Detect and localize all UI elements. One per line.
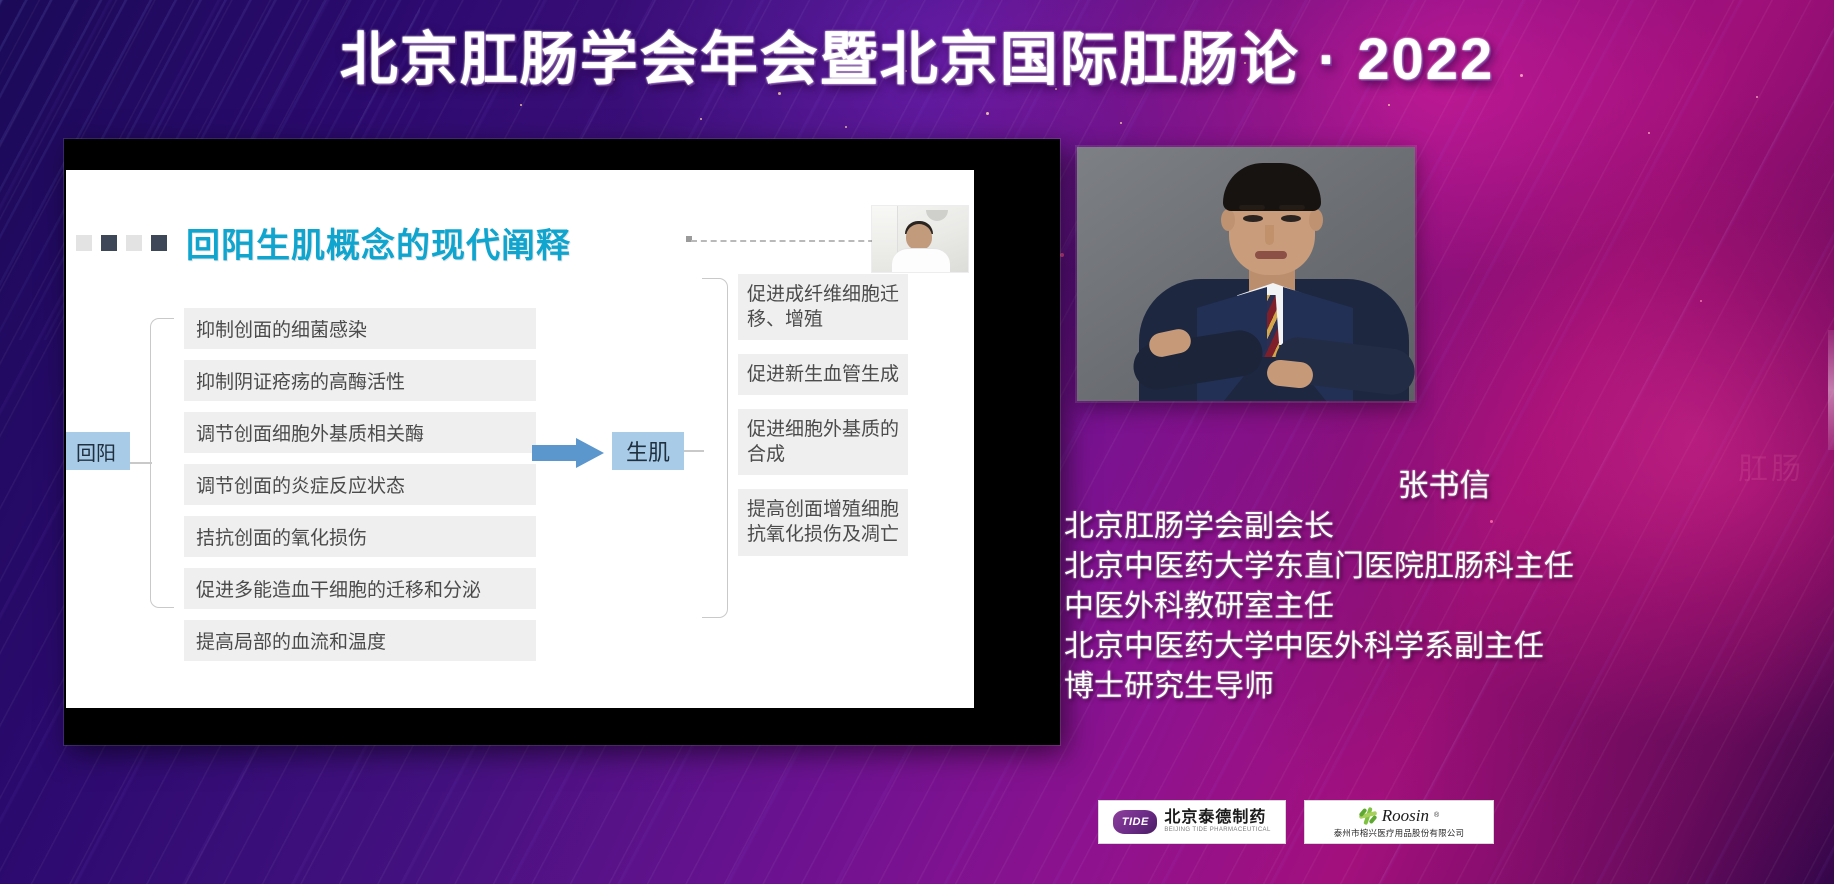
list-item: 拮抗创面的氧化损伤	[184, 516, 536, 557]
slide-heading: 回阳生肌概念的现代阐释	[76, 218, 571, 267]
screen-share-panel[interactable]: 回阳生肌概念的现代阐释 回阳 抑制创面的细菌感染 抑制阴证疮疡的高酶活性 调节创…	[64, 139, 1060, 745]
presenter-title-line: 中医外科教研室主任	[1064, 587, 1824, 627]
list-item: 促进多能造血干细胞的迁移和分泌	[184, 568, 536, 609]
bracket-right-stem	[684, 450, 704, 452]
diagram-root-node: 回阳	[66, 432, 130, 470]
list-item: 调节创面的炎症反应状态	[184, 464, 536, 505]
list-item: 促进成纤维细胞迁移、增殖	[738, 274, 908, 340]
presenter-name: 张书信	[1064, 460, 1824, 505]
bracket-right	[702, 278, 728, 618]
presenter-title-line: 北京中医药大学东直门医院肛肠科主任	[1064, 547, 1824, 587]
presenter-info: 张书信 北京肛肠学会副会长 北京中医药大学东直门医院肛肠科主任 中医外科教研室主…	[1064, 460, 1824, 706]
flow-arrow-icon	[532, 438, 608, 468]
sponsor-logo-tide: TIDE 北京泰德制药 BEIJING TIDE PHARMACEUTICAL	[1098, 800, 1286, 844]
bracket-left	[150, 318, 174, 608]
sponsor-wordmark: Roosin	[1382, 806, 1429, 826]
sponsor-name-cn: 北京泰德制药	[1164, 810, 1270, 827]
bracket-left-stem	[130, 462, 152, 464]
list-item: 抑制创面的细菌感染	[184, 308, 536, 349]
sponsor-name-cn: 泰州市榕兴医疗用品股份有限公司	[1334, 827, 1465, 839]
list-item: 调节创面细胞外基质相关酶	[184, 412, 536, 453]
registered-mark-icon: ®	[1434, 812, 1439, 819]
diagram-mid-node: 生肌	[612, 432, 684, 470]
broadcast-stage: 北京肛肠学会年会暨北京国际肛肠论 · 2022 回阳生肌概念的现代阐释 回阳 抑…	[0, 0, 1834, 884]
bullet-square-4-icon	[151, 235, 167, 251]
roosin-leaf-icon	[1359, 807, 1377, 825]
diagram-right-items: 促进成纤维细胞迁移、增殖 促进新生血管生成 促进细胞外基质的合成 提高创面增殖细…	[738, 274, 908, 570]
diagram-left-items: 抑制创面的细菌感染 抑制阴证疮疡的高酶活性 调节创面细胞外基质相关酶 调节创面的…	[184, 308, 536, 672]
list-item: 抑制阴证疮疡的高酶活性	[184, 360, 536, 401]
list-item: 促进细胞外基质的合成	[738, 409, 908, 475]
list-item: 促进新生血管生成	[738, 354, 908, 395]
bullet-square-3-icon	[126, 235, 142, 251]
sponsor-logos: TIDE 北京泰德制药 BEIJING TIDE PHARMACEUTICAL …	[1098, 800, 1494, 844]
presenter-title-line: 博士研究生导师	[1064, 667, 1824, 707]
sponsor-logo-roosin: Roosin ® 泰州市榕兴医疗用品股份有限公司	[1304, 800, 1494, 844]
slide-canvas: 回阳生肌概念的现代阐释 回阳 抑制创面的细菌感染 抑制阴证疮疡的高酶活性 调节创…	[66, 170, 974, 708]
list-item: 提高局部的血流和温度	[184, 620, 536, 661]
presenter-title-line: 北京肛肠学会副会长	[1064, 507, 1824, 547]
event-title: 北京肛肠学会年会暨北京国际肛肠论 · 2022	[0, 12, 1834, 96]
tide-mark-icon: TIDE	[1113, 810, 1157, 834]
webcam-person-head-icon	[906, 224, 932, 250]
bullet-square-1-icon	[76, 235, 92, 251]
bullet-square-2-icon	[101, 235, 117, 251]
webcam-person-body-icon	[892, 248, 950, 272]
presenter-title-line: 北京中医药大学中医外科学系副主任	[1064, 627, 1824, 667]
presenter-photo	[1077, 147, 1415, 401]
list-item: 提高创面增殖细胞抗氧化损伤及凋亡	[738, 489, 908, 555]
screen-edge-artifact	[1828, 330, 1834, 450]
speaker-webcam-thumbnail[interactable]	[872, 206, 968, 272]
slide-title: 回阳生肌概念的现代阐释	[186, 218, 571, 267]
sponsor-name-en: BEIJING TIDE PHARMACEUTICAL	[1164, 827, 1270, 833]
